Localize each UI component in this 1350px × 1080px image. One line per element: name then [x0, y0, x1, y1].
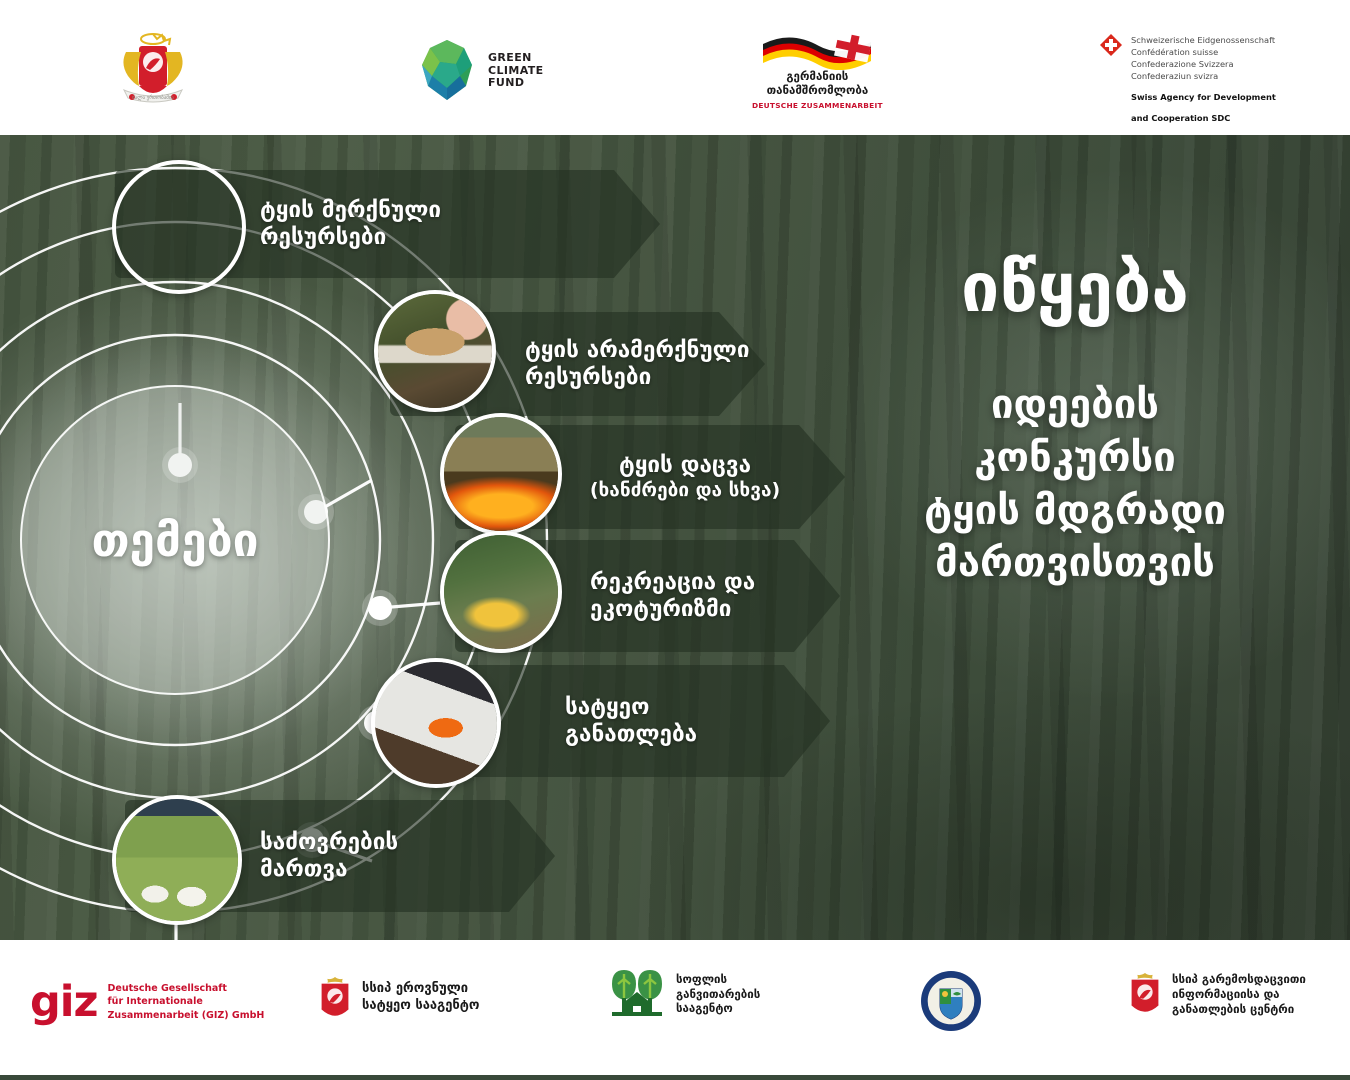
stacked-logs-photo: [116, 164, 242, 290]
mushroom-picking-photo: [378, 294, 492, 408]
main-hero-panel: თემები ტყის მერქნული რესურსები ტყის არამ…: [0, 135, 1350, 940]
camping-tent-photo: [444, 535, 558, 649]
topic-label-recreation: რეკრეაცია და ეკოტურიზმი: [590, 569, 755, 624]
nfa-line-2: სატყეო სააგენტო: [362, 998, 480, 1015]
topic-sublabel-protection: (ხანძრები და სხვა): [585, 479, 785, 502]
georgia-shield-icon-2: [1128, 972, 1162, 1016]
center-hub-themes: თემები: [20, 385, 330, 695]
infographic-poster: ძალა ერთობაშია GREEN CLIMATE FUND: [0, 0, 1350, 1080]
chainsaw-logging-photo: [375, 662, 497, 784]
topic-photo-protection[interactable]: [440, 413, 562, 535]
giz-desc-2: für Internationale: [108, 995, 265, 1008]
topic-photo-pasture[interactable]: [112, 795, 242, 925]
trees-house-icon: [608, 968, 666, 1020]
gerc-ka-line-1: გერმანიის: [767, 70, 869, 84]
swiss-line-it: Confederazione Svizzera: [1131, 58, 1276, 70]
svg-text:ძალა ერთობაშია: ძალა ერთობაშია: [132, 94, 174, 101]
swiss-text-block: Schweizerische Eidgenossenschaft Confédé…: [1131, 34, 1276, 124]
eiec-line-3: განათლების ცენტრი: [1172, 1002, 1306, 1017]
eiec-line-1: სსიპ გარემოსდაცვითი: [1172, 972, 1306, 987]
hero-subtitle: იდეების კონკურსი ტყის მდგრადი მართვისთვი…: [840, 379, 1310, 590]
rda-line-2: განვითარების: [676, 987, 760, 1002]
giz-wordmark: giz: [30, 983, 98, 1022]
bottom-accent-strip: [0, 1075, 1350, 1080]
german-cooperation-ka-text: გერმანიის თანამშრომლობა: [767, 70, 869, 98]
topic-label-pasture: საძოვრების მართვა: [260, 829, 398, 884]
topic-label-timber: ტყის მერქნული რესურსები: [260, 197, 441, 252]
hero-title: იწყება: [840, 255, 1310, 323]
swiss-sdc-logo: Schweizerische Eidgenossenschaft Confédé…: [1100, 34, 1276, 124]
forest-fire-photo: [444, 417, 558, 531]
topic-photo-recreation[interactable]: [440, 531, 562, 653]
gcf-wordmark: GREEN CLIMATE FUND: [488, 52, 544, 91]
header-logo-bar: ძალა ერთობაშია GREEN CLIMATE FUND: [0, 0, 1350, 135]
swiss-agency-line-1: Swiss Agency for Development: [1131, 91, 1276, 103]
eiec-text: სსიპ გარემოსდაცვითი ინფორმაციისა და განა…: [1172, 972, 1306, 1017]
giz-desc-1: Deutsche Gesellschaft: [108, 982, 265, 995]
giz-description: Deutsche Gesellschaft für Internationale…: [108, 982, 265, 1022]
topic-label-education: სატყეო განათლება: [565, 694, 697, 749]
nfa-text: სსიპ ეროვნული სატყეო სააგენტო: [362, 981, 480, 1014]
rda-line-1: სოფლის: [676, 972, 760, 987]
giz-desc-3: Zusammenarbeit (GIZ) GmbH: [108, 1009, 265, 1022]
giz-logo: giz Deutsche Gesellschaft für Internatio…: [30, 982, 264, 1022]
topic-photo-timber[interactable]: [112, 160, 246, 294]
topic-photo-non-timber[interactable]: [374, 290, 496, 412]
round-emblem-logo: [920, 970, 982, 1032]
gcf-line-1: GREEN: [488, 52, 544, 65]
gcf-line-3: FUND: [488, 77, 544, 90]
rda-text: სოფლის განვითარების სააგენტო: [676, 972, 760, 1017]
topic-label-non-timber: ტყის არამერქნული რესურსები: [525, 337, 750, 392]
gcf-globe-icon: [416, 38, 478, 104]
german-georgian-flag-ribbon-icon: [757, 28, 877, 70]
swiss-line-fr: Confédération suisse: [1131, 46, 1276, 58]
national-forestry-agency-logo: სსიპ ეროვნული სატყეო სააგენტო: [318, 976, 480, 1020]
swiss-cross-icon: [1100, 34, 1122, 56]
georgia-coat-of-arms-icon: ძალა ერთობაშია: [108, 28, 198, 108]
round-institutional-emblem-icon: [920, 970, 982, 1032]
georgia-shield-icon: [318, 976, 352, 1020]
rural-development-agency-logo: სოფლის განვითარების სააგენტო: [608, 968, 760, 1020]
topic-label-protection: ტყის დაცვა: [585, 452, 785, 479]
topic-text-protection: ტყის დაცვა (ხანძრები და სხვა): [585, 452, 785, 503]
footer-logo-bar: giz Deutsche Gesellschaft für Internatio…: [0, 940, 1350, 1080]
german-cooperation-logo: გერმანიის თანამშრომლობა DEUTSCHE ZUSAMME…: [752, 28, 883, 110]
nfa-line-1: სსიპ ეროვნული: [362, 981, 480, 998]
hub-label: თემები: [91, 513, 258, 567]
hero-text-block: იწყება იდეების კონკურსი ტყის მდგრადი მარ…: [840, 255, 1310, 590]
swiss-line-rm: Confederaziun svizra: [1131, 70, 1276, 82]
gerc-de-line: DEUTSCHE ZUSAMMENARBEIT: [752, 101, 883, 110]
node-protection: [368, 596, 392, 620]
gerc-ka-line-2: თანამშრომლობა: [767, 84, 869, 98]
green-climate-fund-logo: GREEN CLIMATE FUND: [416, 38, 544, 104]
swiss-agency-line-2: and Cooperation SDC: [1131, 112, 1276, 124]
environmental-info-education-center-logo: სსიპ გარემოსდაცვითი ინფორმაციისა და განა…: [1128, 972, 1306, 1017]
georgia-coat-of-arms-logo: ძალა ერთობაშია: [108, 28, 198, 108]
eiec-line-2: ინფორმაციისა და: [1172, 987, 1306, 1002]
sheep-pasture-photo: [116, 799, 238, 921]
swiss-line-de: Schweizerische Eidgenossenschaft: [1131, 34, 1276, 46]
rda-line-3: სააგენტო: [676, 1001, 760, 1016]
topic-photo-education[interactable]: [371, 658, 501, 788]
